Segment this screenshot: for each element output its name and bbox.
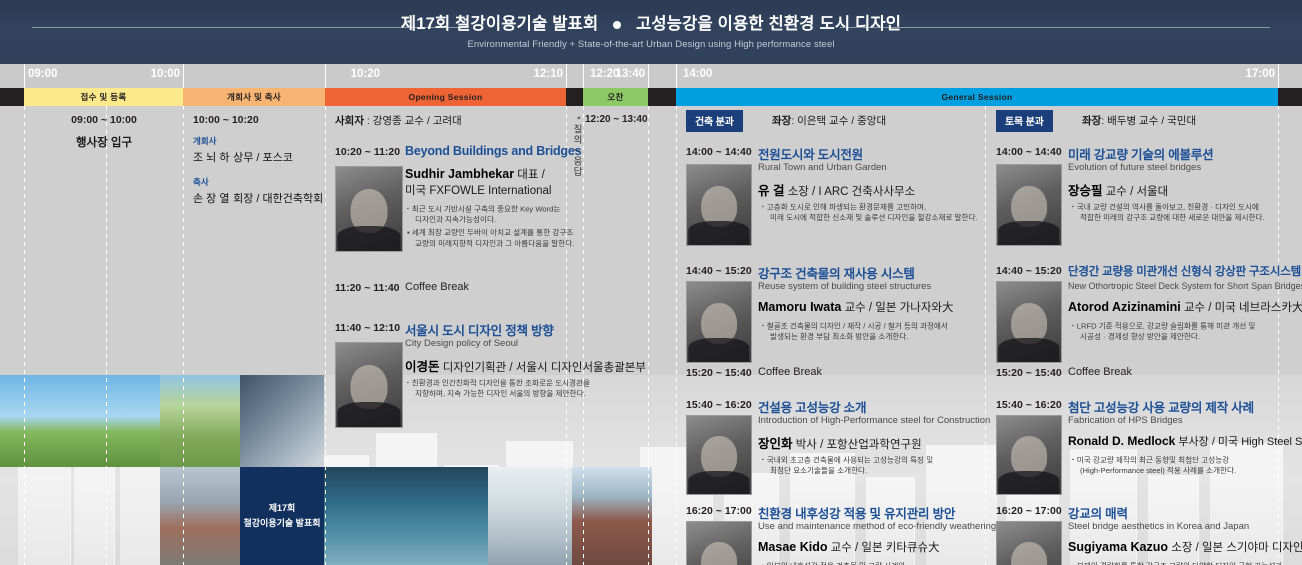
speaker-role: 교수 / 일본 가나자와大 (845, 302, 954, 314)
congratulatory-speaker: 손 장 열 회장 / 대한건축학회 (193, 190, 321, 206)
talk-bullets: 국내 교량 건설의 역사를 돌아보고, 친환경 · 디자인 도시에 적합한 미래… (1072, 202, 1265, 223)
registration-column: 09:00 ~ 10:00 행사장 입구 (26, 114, 182, 150)
axis-tick (183, 64, 184, 88)
lunch-column: 12:20 ~ 13:40 (585, 114, 647, 125)
talk-title-ko: 서울시 도시 디자인 정책 방향 (405, 320, 554, 339)
civil-header: 토목 분과 좌장: 배두병 교수 / 국민대 (996, 110, 1296, 132)
opening-remarks-item: 개회사 조 뇌 하 상무 / 포스코 (193, 135, 321, 165)
axis-tick (583, 64, 584, 88)
chair-label: 좌장 (1082, 115, 1101, 127)
qna-column: * 질의 / 응답 (569, 116, 583, 236)
bullet-line: 적합한 미래의 강구조 교량에 대한 새로운 대안을 제시한다. (1072, 213, 1265, 224)
axis-tick (1278, 64, 1279, 88)
bullet-line: 최근 도시 기반시설 구축의 중요한 Key Word는 (407, 204, 574, 215)
registration-time: 09:00 ~ 10:00 (26, 114, 182, 126)
bullet-line: 최첨단 요소기술들을 소개한다. (762, 466, 933, 477)
speaker-name: Masae Kido (758, 540, 827, 554)
talk-bullets: 부재의 경량화를 통한 강구조 교량의 다양한 디자인 구현 가능성과 강교량 … (1072, 561, 1282, 565)
bullet-line: 일본의 내후성강 적용 건축물 및 교량 사례와 (762, 561, 922, 565)
column-divider (325, 106, 326, 565)
speaker-name: Sudhir Jambhekar (405, 167, 514, 181)
column-divider (566, 106, 567, 565)
speaker-name: 장승필 (1068, 184, 1103, 198)
column-divider (985, 106, 986, 565)
talk-hps-introduction: 15:40 ~ 16:20 건설용 고성능강 소개 Introduction o… (686, 397, 982, 497)
title-main: 제17회 철강이용기술 발표회 (401, 15, 599, 33)
chair-value: : 배두병 교수 / 국민대 (1101, 115, 1196, 127)
talk-title-en: Rural Town and Urban Garden (758, 162, 887, 173)
talk-time: 10:20 ~ 11:20 (335, 146, 400, 158)
talk-speaker: Ronald D. Medlock 부사장 / 미국 High Steel St… (1068, 433, 1302, 449)
talk-title-ko: 건설용 고성능강 소개 (758, 397, 866, 416)
talk-rural-town-urban-garden: 14:00 ~ 14:40 전원도시와 도시전원 Rural Town and … (686, 144, 982, 249)
coffee-time: 11:20 ~ 11:40 (335, 282, 400, 294)
portrait-lee-kyungdon (335, 342, 403, 428)
talk-title-en: Introduction of High-Performance steel f… (758, 415, 990, 426)
speaker-name: 조 뇌 하 (193, 152, 229, 164)
talk-weathering-steel: 16:20 ~ 17:00 친환경 내후성강 적용 및 유지관리 방안 Use … (686, 503, 982, 565)
moderator-value: : 강영종 교수 / 고려대 (367, 115, 462, 127)
chair-label: 좌장 (772, 115, 791, 127)
axis-label-1020: 10:20 (351, 68, 383, 80)
coffee-label: Coffee Break (1068, 366, 1132, 378)
talk-title-ko: 미래 강교량 기술의 에볼루션 (1068, 144, 1213, 163)
talk-orthotropic-deck: 14:40 ~ 15:20 단경간 교량용 미관개선 신형식 강상판 구조시스템… (996, 263, 1296, 365)
portrait-jang-seungpil (996, 164, 1062, 246)
poster-header: 제17회 철강이용기술 발표회 고성능강을 이용한 친환경 도시 디자인 Env… (0, 0, 1302, 64)
talk-title-en: Reuse system of building steel structure… (758, 281, 931, 292)
axis-tick (566, 64, 567, 88)
column-divider (24, 106, 25, 565)
talk-title-en: New Othortropic Steel Deck System for Sh… (1068, 281, 1302, 291)
band-segment-general-session: General Session (676, 88, 1278, 106)
architecture-chair: 좌장: 이은택 교수 / 중앙대 (772, 113, 886, 128)
talk-title-en: Steel bridge aesthetics in Korea and Jap… (1068, 521, 1249, 532)
talk-speaker: Sudhir Jambhekar 대표 / (405, 166, 545, 182)
speaker-name: Mamoru Iwata (758, 300, 841, 314)
event-badge: 제17회 철강이용기술 발표회 (240, 467, 324, 565)
qna-vertical-text: * 질의 / 응답 (569, 116, 583, 177)
axis-label-1700: 17:00 (1246, 68, 1278, 80)
civil-chair: 좌장: 배두병 교수 / 국민대 (1082, 113, 1196, 128)
talk-beyond-buildings-and-bridges: 10:20 ~ 11:20 Beyond Buildings and Bridg… (335, 144, 565, 278)
talk-speaker: Masae Kido 교수 / 일본 키타큐슈大 (758, 539, 940, 555)
axis-label-1210: 12:10 (534, 68, 566, 80)
opening-session-column: 사회자 : 강영종 교수 / 고려대 10:20 ~ 11:20 Beyond … (335, 113, 565, 430)
opening-remarks-column: 10:00 ~ 10:20 개회사 조 뇌 하 상무 / 포스코 축사 손 장 … (193, 114, 321, 206)
talk-speaker: 장인화 박사 / 포항산업과학연구원 (758, 433, 922, 452)
opening-session-moderator: 사회자 : 강영종 교수 / 고려대 (335, 113, 565, 128)
speaker-role: 대표 / (517, 169, 545, 181)
bullet-line: (High-Performance steel) 적용 사례를 소개한다. (1072, 466, 1236, 477)
lunch-time: 12:20 ~ 13:40 (585, 114, 647, 125)
registration-place: 행사장 입구 (26, 134, 182, 150)
talk-time: 16:20 ~ 17:00 (686, 505, 752, 517)
talk-speaker: Atorod Azizinamini 교수 / 미국 네브라스카大 (1068, 299, 1302, 315)
axis-label-1000: 10:00 (151, 68, 183, 80)
speaker-title: 상무 / 포스코 (233, 152, 293, 164)
talk-bullets: 일본의 내후성강 적용 건축물 및 교량 사례와 녹안정화 과정에 따른 유지관… (762, 561, 922, 565)
badge-line-2: 철강이용기술 발표회 (243, 516, 320, 531)
axis-label-1400: 14:00 (679, 68, 712, 80)
congratulatory-label: 축사 (193, 176, 321, 188)
talk-time: 16:20 ~ 17:00 (996, 505, 1062, 517)
talk-title-ko: 강교의 매력 (1068, 503, 1128, 522)
talk-title-en: Fabrication of HPS Bridges (1068, 415, 1183, 426)
portrait-sugiyama-kazuo (996, 521, 1062, 565)
portrait-masae-kido (686, 521, 752, 565)
photo-pedestrian-street (160, 467, 240, 565)
civil-tag: 토목 분과 (996, 110, 1053, 132)
conference-program-poster: 제17회 철강이용기술 발표회 고성능강을 이용한 친환경 도시 디자인 Env… (0, 0, 1302, 565)
talk-time: 15:40 ~ 16:20 (996, 399, 1062, 411)
speaker-name: 손 장 열 (193, 193, 229, 205)
photo-eco-village (160, 375, 240, 467)
talk-speaker: 유 걸 소장 / I ARC 건축사사무소 (758, 180, 915, 199)
speaker-name: Atorod Azizinamini (1068, 300, 1181, 314)
bullet-line: 부재의 경량화를 통한 강구조 교량의 다양한 디자인 구현 가능성과 (1072, 561, 1282, 565)
column-divider (183, 106, 184, 565)
talk-speaker: 이경돈 디자인기획관 / 서울시 디자인서울총괄본부 (405, 356, 646, 375)
talk-reuse-system-steel: 14:40 ~ 15:20 강구조 건축물의 재사용 시스템 Reuse sys… (686, 263, 982, 365)
talk-title-ko: Beyond Buildings and Bridges (405, 144, 581, 158)
axis-tick (648, 64, 649, 88)
bullet-line: 미국 강교량 제작의 최근 동향및 최첨단 고성능강 (1072, 455, 1236, 466)
talk-title-ko: 단경간 교량용 미관개선 신형식 강상판 구조시스템 (1068, 263, 1301, 279)
photo-bicycles (240, 375, 324, 467)
band-segment-registration: 접수 및 등록 (24, 88, 183, 106)
talk-title-ko: 친환경 내후성강 적용 및 유지관리 방안 (758, 503, 955, 522)
architecture-column: 건축 분과 좌장: 이은택 교수 / 중앙대 14:00 ~ 14:40 전원도… (686, 110, 982, 565)
speaker-title: 회장 / 대한건축학회 (233, 193, 323, 205)
speaker-name: 장인화 (758, 437, 793, 451)
band-segment-opening-remarks: 개회사 및 축사 (183, 88, 325, 106)
band-segment-opening-session: Opening Session (325, 88, 566, 106)
speaker-name: Sugiyama Kazuo (1068, 540, 1168, 554)
bullet-line: 디자인과 지속가능성이다. (407, 215, 574, 226)
talk-city-design-policy: 11:40 ~ 12:10 서울시 도시 디자인 정책 방향 City Desi… (335, 320, 565, 430)
bullet-line: LRFD 기준 적용으로, 강교량 슬림화를 통해 미관 개선 및 (1072, 321, 1255, 332)
talk-bullets: 최근 도시 기반시설 구축의 중요한 Key Word는 디자인과 지속가능성이… (407, 204, 574, 249)
portrait-yoo-kerl (686, 164, 752, 246)
bullet-line: 교량의 미래지향적 디자인과 그 아름다움을 말한다. (407, 239, 574, 250)
talk-future-steel-bridges: 14:00 ~ 14:40 미래 강교량 기술의 에볼루션 Evolution … (996, 144, 1296, 249)
speaker-role: 소장 / I ARC 건축사사무소 (788, 186, 915, 198)
speaker-role: 교수 / 서울대 (1106, 186, 1169, 198)
bullet-line: 시공성 · 경제성 향상 방안을 제안한다. (1072, 332, 1255, 343)
talk-time: 14:40 ~ 15:20 (686, 265, 752, 277)
bullet-line: 철골조 건축물의 디자인 / 제작 / 시공 / 철거 등의 과정에서 (762, 321, 948, 332)
talk-title-en: City Design policy of Seoul (405, 338, 518, 349)
axis-label-1220: 12:20 (586, 68, 619, 80)
portrait-sudhir-jambhekar (335, 166, 403, 252)
bullet-line: 고층화 도시로 인해 파생되는 환경문제를 고민하며, (762, 202, 978, 213)
portrait-ronald-medlock (996, 415, 1062, 495)
speaker-role: 부사장 / 미국 High Steel Structures, Inc. (1178, 436, 1302, 448)
talk-speaker-org: 미국 FXFOWLE International (405, 182, 551, 198)
page-subtitle: Environmental Friendly + State-of-the-ar… (0, 39, 1302, 50)
talk-bullets: 미국 강교량 제작의 최근 동향및 최첨단 고성능강 (High-Perform… (1072, 455, 1236, 476)
badge-line-1: 제17회 (243, 501, 320, 516)
program-body: 제17회 철강이용기술 발표회 09:00 ~ 10:00 행사장 입구 10:… (0, 106, 1302, 565)
talk-hps-bridges-fabrication: 15:40 ~ 16:20 첨단 고성능강 사용 교량의 제작 사례 Fabri… (996, 397, 1296, 497)
coffee-time: 15:20 ~ 15:40 (996, 367, 1062, 379)
dot-separator-icon (613, 21, 621, 29)
talk-title-en: Evolution of future steel bridges (1068, 162, 1201, 173)
speaker-name: 유 걸 (758, 184, 784, 198)
speaker-role: 교수 / 일본 키타큐슈大 (831, 542, 940, 554)
coffee-label: Coffee Break (758, 366, 822, 378)
bullet-line: ▪ 세계 최장 교량인 두바이 아치교 설계를 통한 강구조 (407, 228, 574, 239)
page-title: 제17회 철강이용기술 발표회 고성능강을 이용한 친환경 도시 디자인 (0, 14, 1302, 34)
axis-label-1340: 13:40 (616, 68, 648, 80)
bullet-line: 국내 교량 건설의 역사를 돌아보고, 친환경 · 디자인 도시에 (1072, 202, 1265, 213)
talk-speaker: Sugiyama Kazuo 소장 / 일본 스기야마 디자인 연구소 (1068, 539, 1302, 555)
talk-time: 14:00 ~ 14:40 (996, 146, 1062, 158)
talk-bullets: 국내외 초고층 건축물에 사용되는 고성능강의 특징 및 최첨단 요소기술들을 … (762, 455, 933, 476)
talk-title-ko: 전원도시와 도시전원 (758, 144, 863, 163)
speaker-role: 소장 / 일본 스기야마 디자인 연구소 (1171, 542, 1302, 554)
title-sub: 고성능강을 이용한 친환경 도시 디자인 (636, 15, 901, 33)
bullet-line: 발생되는 환경 부담 최소화 방안을 소개한다. (762, 332, 948, 343)
architecture-tag: 건축 분과 (686, 110, 743, 132)
portrait-atorod-azizinamini (996, 281, 1062, 363)
photo-highrise-towers (572, 467, 652, 565)
talk-bullets: 철골조 건축물의 디자인 / 제작 / 시공 / 철거 등의 과정에서 발생되는… (762, 321, 948, 342)
portrait-jang-inhwa (686, 415, 752, 495)
session-color-band: 접수 및 등록 개회사 및 축사 Opening Session 오찬 Gene… (0, 88, 1302, 106)
opening-coffee-break: 11:20 ~ 11:40 Coffee Break (335, 282, 565, 302)
congratulatory-item: 축사 손 장 열 회장 / 대한건축학회 (193, 176, 321, 206)
bullet-line: 국내외 초고층 건축물에 사용되는 고성능강의 특징 및 (762, 455, 933, 466)
bullet-line: 지향하며, 지속 가능한 디자인 서울의 방향을 제안한다. (407, 389, 590, 400)
speaker-role: 박사 / 포항산업과학연구원 (796, 439, 922, 451)
talk-speaker: 장승필 교수 / 서울대 (1068, 180, 1168, 199)
talk-time: 15:40 ~ 16:20 (686, 399, 752, 411)
moderator-label: 사회자 (335, 115, 364, 127)
architecture-header: 건축 분과 좌장: 이은택 교수 / 중앙대 (686, 110, 982, 132)
band-segment-lunch: 오찬 (583, 88, 648, 106)
coffee-time: 15:20 ~ 15:40 (686, 367, 752, 379)
column-divider (648, 106, 649, 565)
opening-remarks-speaker: 조 뇌 하 상무 / 포스코 (193, 149, 321, 165)
talk-steel-bridge-aesthetics: 16:20 ~ 17:00 강교의 매력 Steel bridge aesthe… (996, 503, 1296, 565)
speaker-role: 교수 / 미국 네브라스카大 (1184, 302, 1302, 314)
axis-tick (676, 64, 677, 88)
speaker-role: 디자인기획관 / 서울시 디자인서울총괄본부 (443, 362, 646, 374)
talk-title-en: Use and maintenance method of eco-friend… (758, 521, 1019, 532)
column-divider (106, 106, 107, 565)
civil-column: 토목 분과 좌장: 배두병 교수 / 국민대 14:00 ~ 14:40 미래 … (996, 110, 1296, 565)
talk-title-ko: 강구조 건축물의 재사용 시스템 (758, 263, 915, 282)
talk-bullets: 고층화 도시로 인해 파생되는 환경문제를 고민하며, 미래 도시에 적합한 신… (762, 202, 978, 223)
talk-title-ko: 첨단 고성능강 사용 교량의 제작 사례 (1068, 397, 1254, 416)
talk-time: 11:40 ~ 12:10 (335, 322, 400, 334)
bullet-line: 친환경과 인간친화적 디자인을 통한 조화로운 도시경관을 (407, 378, 590, 389)
photo-shell-structure (488, 467, 572, 565)
chair-value: : 이은택 교수 / 중앙대 (791, 115, 886, 127)
bullet-line: 미래 도시에 적합한 신소재 및 솔루션 디자인을 철강소재로 말한다. (762, 213, 978, 224)
column-divider (676, 106, 677, 565)
photo-bridge-aerial (324, 467, 488, 565)
talk-time: 14:00 ~ 14:40 (686, 146, 752, 158)
time-axis: 09:00 10:00 10:20 12:10 12:20 13:40 14:0… (0, 64, 1302, 88)
talk-time: 14:40 ~ 15:20 (996, 265, 1062, 277)
opening-remarks-time: 10:00 ~ 10:20 (193, 114, 321, 126)
portrait-mamoru-iwata (686, 281, 752, 363)
speaker-name: 이경돈 (405, 360, 440, 374)
coffee-label: Coffee Break (405, 281, 469, 293)
opening-remarks-label: 개회사 (193, 135, 321, 147)
axis-label-0900: 09:00 (24, 68, 57, 80)
column-divider (583, 106, 584, 565)
axis-tick (325, 64, 326, 88)
civil-coffee-break: 15:20 ~ 15:40 Coffee Break (996, 367, 1296, 389)
talk-bullets: LRFD 기준 적용으로, 강교량 슬림화를 통해 미관 개선 및 시공성 · … (1072, 321, 1255, 342)
architecture-coffee-break: 15:20 ~ 15:40 Coffee Break (686, 367, 982, 389)
speaker-name: Ronald D. Medlock (1068, 434, 1175, 448)
talk-speaker: Mamoru Iwata 교수 / 일본 가나자와大 (758, 299, 953, 315)
talk-bullets: 친환경과 인간친화적 디자인을 통한 조화로운 도시경관을 지향하며, 지속 가… (407, 378, 590, 399)
